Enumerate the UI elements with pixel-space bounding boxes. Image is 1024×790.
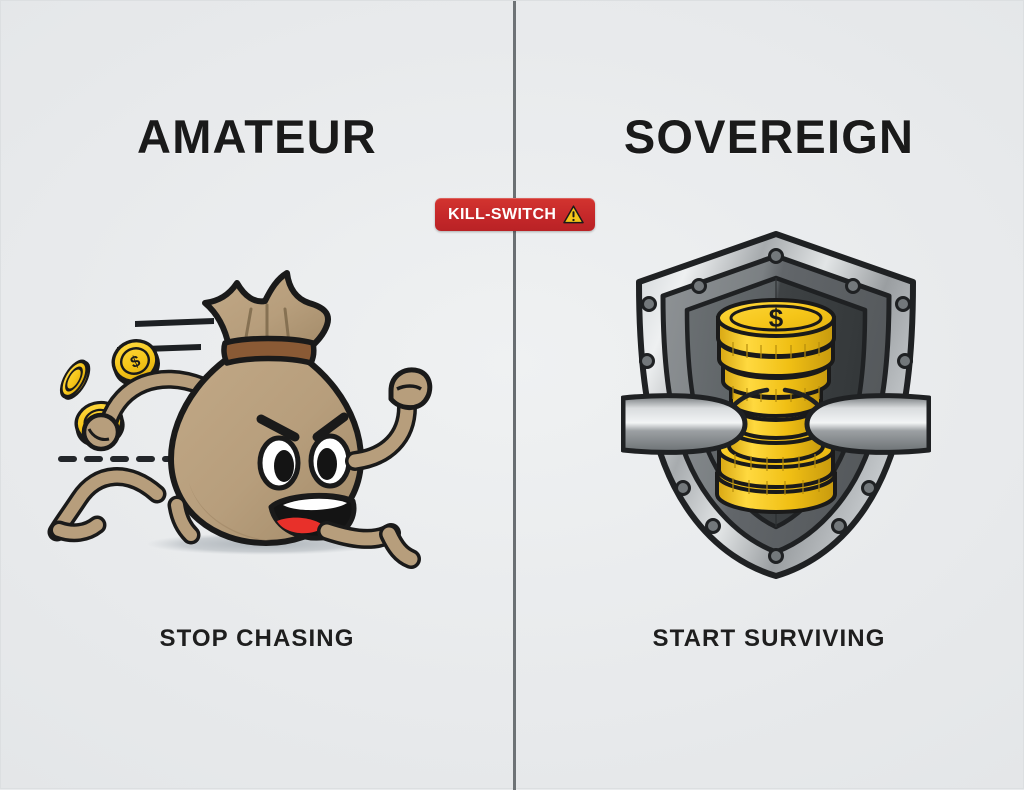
- left-panel-caption: STOP CHASING: [1, 625, 513, 653]
- comparison-poster: AMATEUR SOVEREIGN KILL-SWITCH: [0, 0, 1024, 789]
- right-panel-caption: START SURVIVING: [513, 625, 1024, 653]
- money-bag-knot: [205, 273, 328, 363]
- money-bag-svg: $ $: [39, 251, 469, 581]
- coin-2: [56, 357, 94, 402]
- svg-text:$: $: [769, 303, 784, 333]
- eye-left: [260, 438, 298, 488]
- eye-right: [311, 436, 349, 486]
- shield-svg: $: [621, 226, 931, 581]
- right-panel-heading: SOVEREIGN: [513, 109, 1024, 164]
- kill-switch-label: KILL-SWITCH: [448, 207, 556, 223]
- warning-triangle-icon: [563, 205, 584, 224]
- left-panel-heading: AMATEUR: [1, 109, 513, 164]
- bag-back-leg: [57, 477, 157, 533]
- bag-front-leg: [327, 531, 411, 559]
- running-money-bag-illustration: $ $: [39, 251, 469, 581]
- shield-coins-illustration: $: [621, 226, 931, 581]
- bag-front-arm: [355, 370, 430, 461]
- kill-switch-badge[interactable]: KILL-SWITCH: [435, 198, 595, 231]
